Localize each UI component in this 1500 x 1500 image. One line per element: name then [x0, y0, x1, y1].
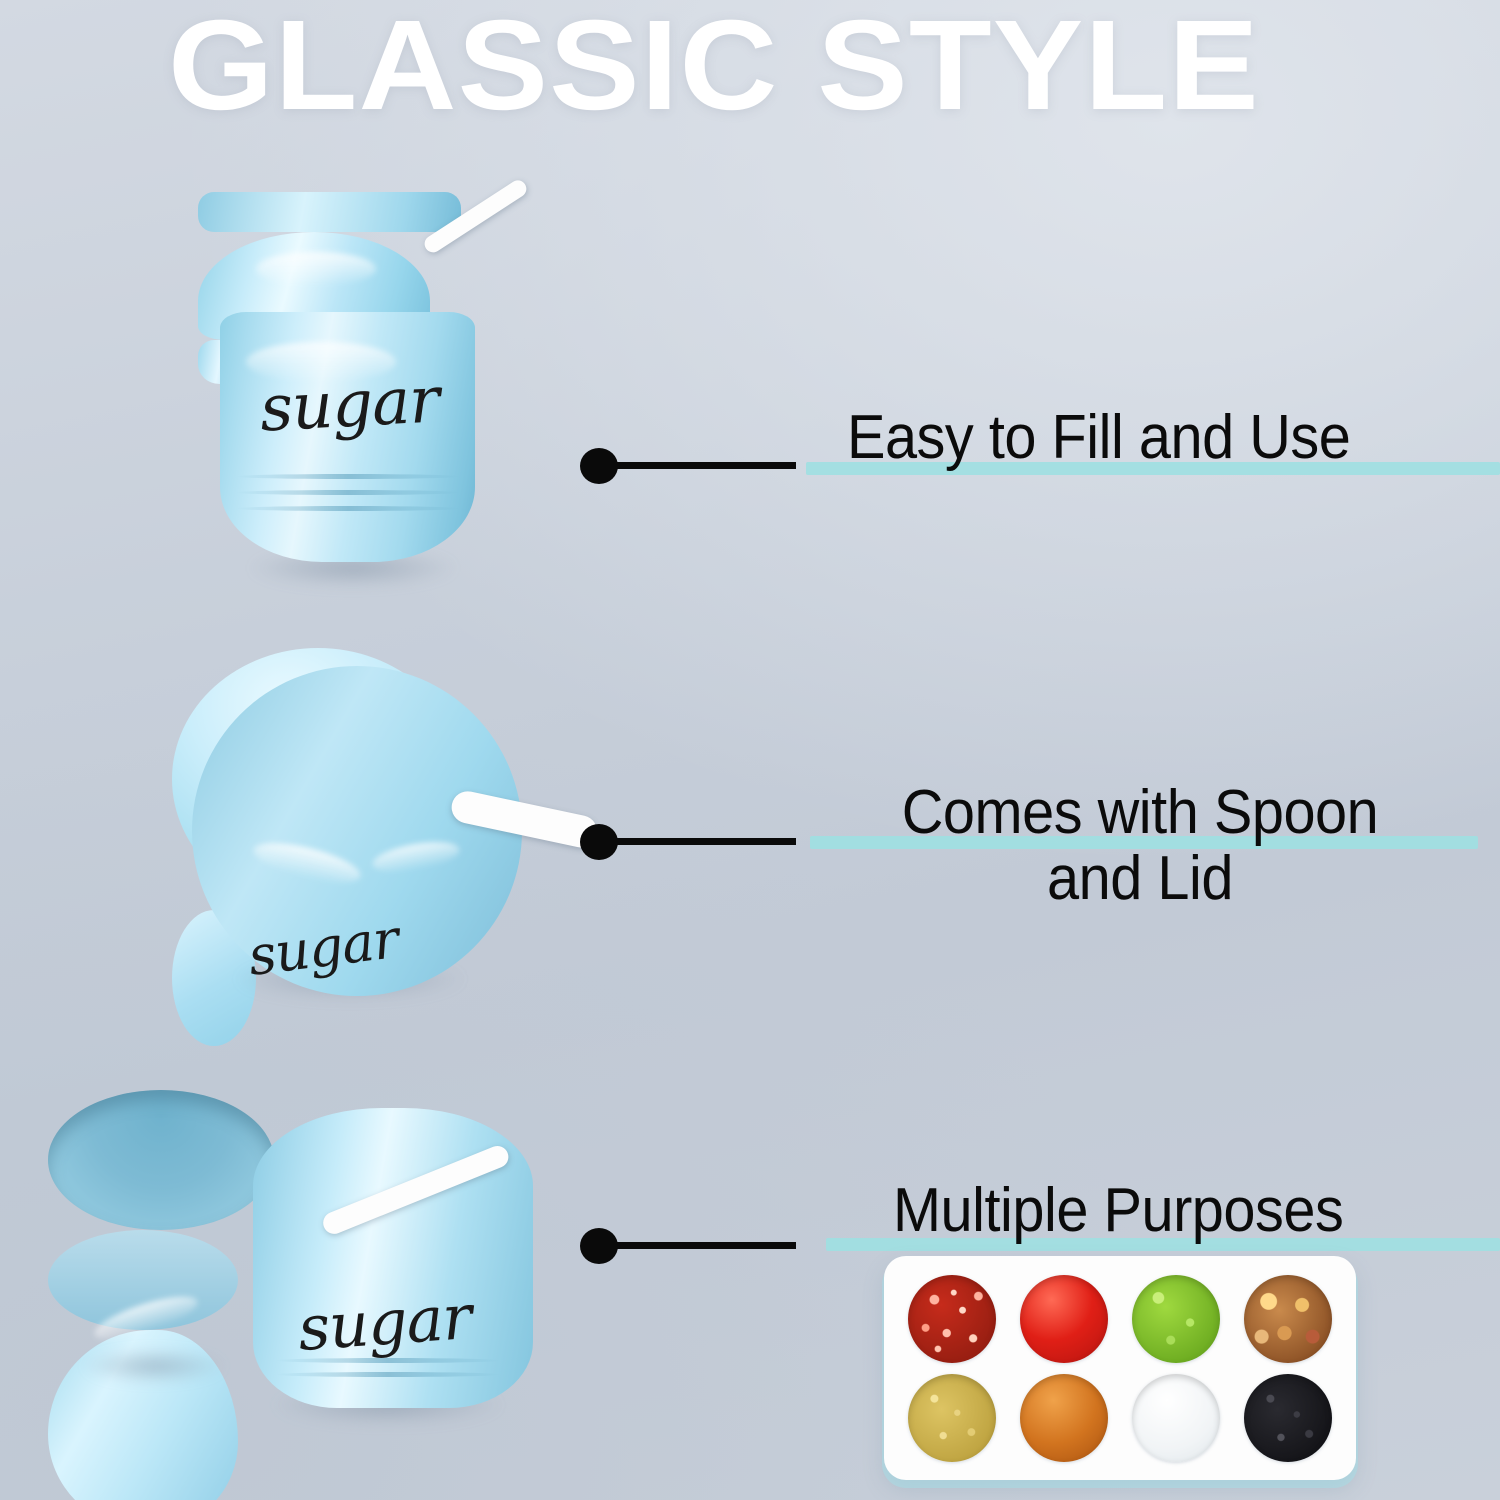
leader-line — [610, 462, 796, 469]
page-title: GLASSIC STYLE — [168, 0, 1260, 136]
jar-rib — [236, 474, 460, 479]
feature-label-multiple-purposes: Multiple Purposes — [893, 1178, 1343, 1244]
product-shot-jar-topdown: sugar — [172, 648, 602, 1048]
spice-well-chili-paste — [1020, 1275, 1108, 1363]
spice-well-black-sesame — [1244, 1374, 1332, 1462]
leader-line — [610, 838, 796, 845]
jar-label-text: sugar — [296, 1280, 474, 1365]
jar-rib — [276, 1372, 500, 1377]
spice-well-paprika-powder — [1020, 1374, 1108, 1462]
jar-rim — [198, 192, 461, 232]
product-shot-jar-closed: sugar — [198, 192, 558, 612]
jar-rib — [236, 490, 460, 495]
spice-well-matcha-powder — [1132, 1275, 1220, 1363]
jar-rib — [236, 506, 460, 511]
feature-line-1: Comes with Spoon — [902, 778, 1379, 847]
spice-well-dried-chili-flakes — [1244, 1275, 1332, 1363]
infographic-canvas: GLASSIC STYLE sugar sugar — [0, 0, 1500, 1500]
lid-shadow — [54, 1342, 254, 1390]
spice-well-salt — [1132, 1374, 1220, 1462]
spice-tray — [884, 1256, 1356, 1480]
spice-well-millet-grain — [908, 1374, 996, 1462]
jar-label-text: sugar — [258, 363, 440, 446]
feature-label-easy-fill: Easy to Fill and Use — [847, 405, 1350, 471]
product-shot-jar-open: sugar — [48, 1090, 568, 1500]
lid-gloss — [256, 252, 376, 286]
feature-label-spoon-lid: Comes with Spoon and Lid — [815, 780, 1466, 912]
leader-line — [610, 1242, 796, 1249]
jar-opening — [48, 1090, 274, 1230]
feature-line-2: and Lid — [1047, 844, 1233, 913]
spice-well-chopped-chili — [908, 1275, 996, 1363]
